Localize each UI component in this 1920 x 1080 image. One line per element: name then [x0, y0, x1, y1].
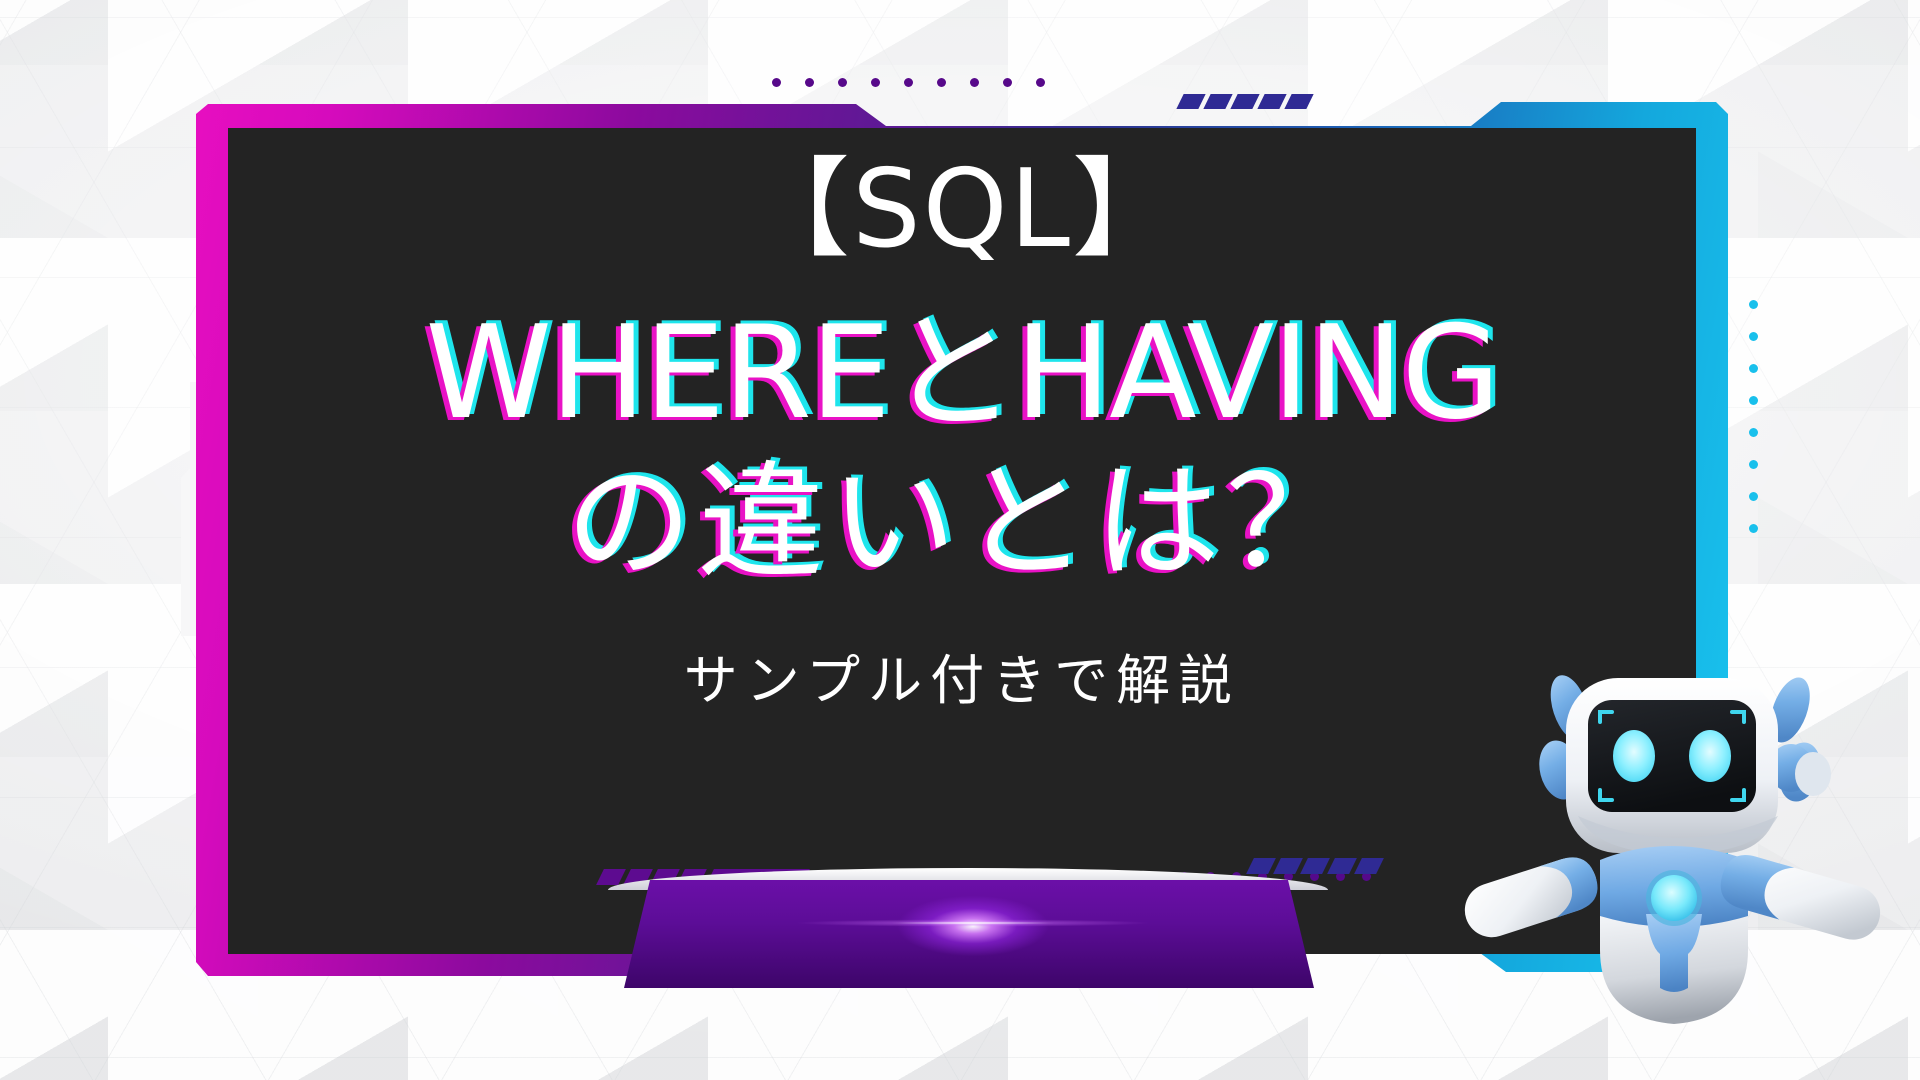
- top-dotted-rail: [772, 78, 1072, 88]
- accent-dot: [1749, 300, 1758, 309]
- accent-dot: [1749, 524, 1758, 533]
- accent-dot: [1749, 428, 1758, 437]
- accent-dot: [1749, 492, 1758, 501]
- tick-mark: [1284, 94, 1313, 109]
- robot-mascot: [1448, 648, 1888, 1078]
- left-accent-strip: [172, 382, 196, 636]
- tick-mark: [1203, 94, 1232, 109]
- rail-dot: [871, 78, 880, 87]
- accent-dot: [1749, 396, 1758, 405]
- headline-line-1: WHEREとHAVING: [425, 306, 1498, 442]
- headline-line-2: の違いとは？: [228, 456, 1696, 590]
- rail-dot: [772, 78, 781, 87]
- headline: WHEREとHAVING の違いとは？: [228, 306, 1696, 589]
- kicker-text: 【SQL】: [228, 156, 1696, 264]
- robot-head: [1566, 678, 1778, 854]
- tick-mark: [1230, 94, 1259, 109]
- rail-dot: [805, 78, 814, 87]
- rail-dot: [1003, 78, 1012, 87]
- right-accent-dots: [1744, 300, 1758, 550]
- rail-dot: [937, 78, 946, 87]
- accent-dot: [1749, 332, 1758, 341]
- rail-dot: [904, 78, 913, 87]
- platform-lens-flare: [738, 918, 1208, 928]
- rail-dot: [970, 78, 979, 87]
- tick-mark: [1257, 94, 1286, 109]
- robot-eye-right: [1689, 730, 1731, 782]
- rail-dot: [838, 78, 847, 87]
- accent-dot: [1749, 364, 1758, 373]
- accent-dot: [1749, 460, 1758, 469]
- robot-eye-left: [1613, 730, 1655, 782]
- top-right-tick-marks: [1180, 94, 1340, 112]
- robot-chest-light: [1651, 875, 1697, 921]
- rail-dot: [1036, 78, 1045, 87]
- tick-mark: [1176, 94, 1205, 109]
- glowing-platform: [568, 868, 1368, 988]
- left-accent-bar: [181, 382, 196, 636]
